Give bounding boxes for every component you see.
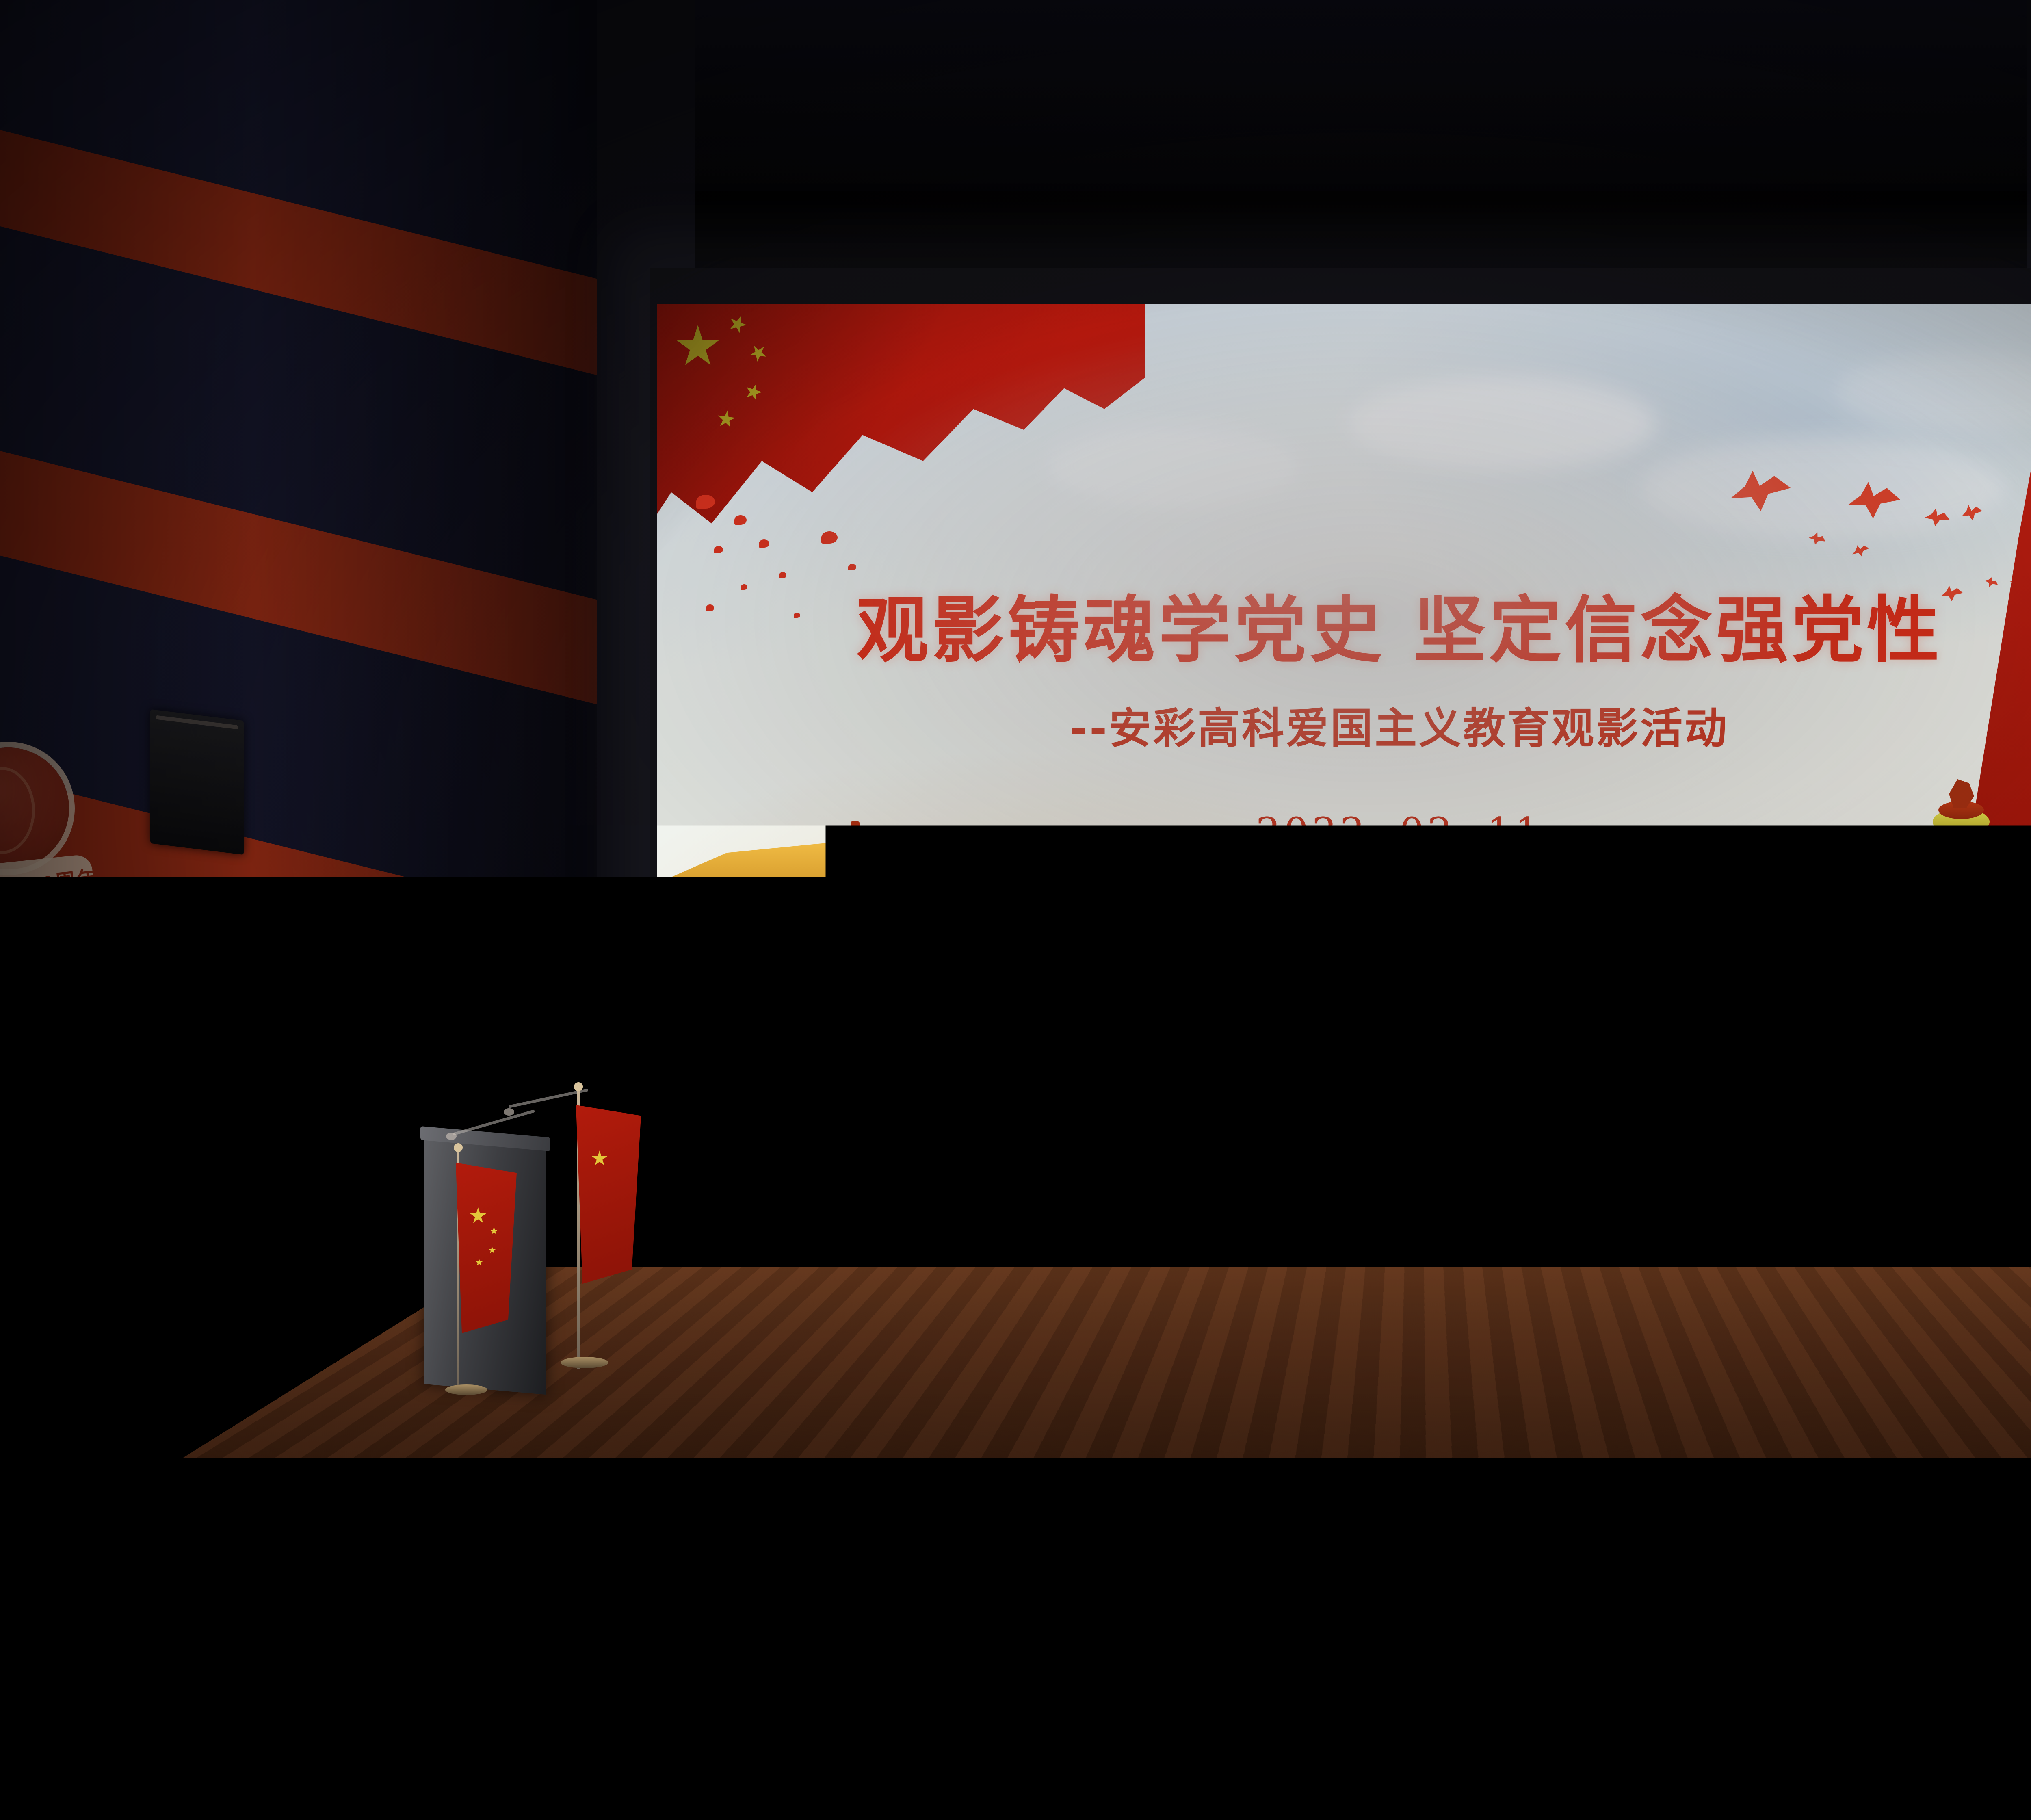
microphone-head-icon [504, 1108, 514, 1116]
audience-member [477, 1487, 565, 1588]
cloud [1348, 377, 1656, 470]
audience-member [666, 1519, 751, 1616]
emergency-exit-sign: 安全出口 [470, 1068, 540, 1098]
auditorium-scene: 党成立100周年 [0, 0, 2031, 1820]
cinema-seat [1856, 1420, 1990, 1506]
flag-finial [454, 1143, 463, 1152]
wall-speaker-icon [150, 709, 244, 855]
audience-member [313, 1599, 422, 1724]
flag-cloth [456, 1163, 517, 1333]
desk-national-flag [443, 1150, 532, 1402]
audience-member [1271, 1631, 1384, 1759]
audience-member [1550, 1517, 1636, 1616]
petal [734, 515, 747, 525]
emblem-disc-icon [0, 747, 69, 869]
flag-finial [574, 1082, 583, 1091]
audience-seating [0, 1414, 2031, 1820]
cloud [1640, 438, 2006, 539]
audience-member [1777, 1500, 1864, 1601]
audience-member [1089, 1527, 1174, 1625]
slide-date: 2022. 02. 11 [657, 809, 2031, 855]
flag-stand-base [445, 1384, 487, 1395]
phone-screen [711, 1609, 745, 1666]
audience-member [1596, 1615, 1708, 1743]
phone-screen [682, 1779, 720, 1820]
desk-national-flag [561, 1089, 654, 1373]
cinema-screen-frame: 人民共和国万岁 观影铸魂学党史 坚定信念强党性 --安彩高科爱国主义教育观影活动… [650, 268, 2031, 1198]
cinema-seat [808, 1423, 942, 1508]
flag-cloth [576, 1105, 641, 1284]
audience-member [951, 1608, 1061, 1735]
exit-sign-label: 安全出口 [494, 1068, 540, 1098]
cinema-seat [959, 1422, 1093, 1507]
projection-screen: 人民共和国万岁 观影铸魂学党史 坚定信念强党性 --安彩高科爱国主义教育观影活动… [657, 304, 2031, 1141]
petal [696, 495, 715, 509]
slide-subtitle: --安彩高科爱国主义教育观影活动 [657, 694, 2031, 755]
petal [759, 539, 769, 548]
audience-member [890, 1507, 971, 1601]
small-red-flag [1119, 1005, 1164, 1039]
microphone-head-icon [446, 1133, 457, 1140]
audience-member [1338, 1495, 1426, 1596]
running-man-icon [472, 1070, 494, 1095]
cinema-seat [1706, 1421, 1840, 1506]
party-anniversary-decal: 党成立100周年 [0, 747, 106, 959]
petal [714, 546, 723, 553]
petal [848, 564, 856, 570]
cinema-seat [1556, 1423, 1690, 1508]
cinema-seat [1405, 1424, 1539, 1510]
audience-member-clothing [1934, 1662, 2031, 1763]
cloud [1047, 426, 1299, 507]
flag-pole [1117, 1007, 1119, 1076]
petal [821, 531, 838, 544]
huabiao-column [1898, 767, 2020, 1019]
cinema-seat [1105, 1423, 1239, 1509]
slide-title: 观影铸魂学党史 坚定信念强党性 [657, 572, 2031, 676]
small-red-flag [1170, 1008, 1213, 1041]
flag-stand-base [561, 1357, 608, 1368]
audience-member [57, 1568, 167, 1694]
